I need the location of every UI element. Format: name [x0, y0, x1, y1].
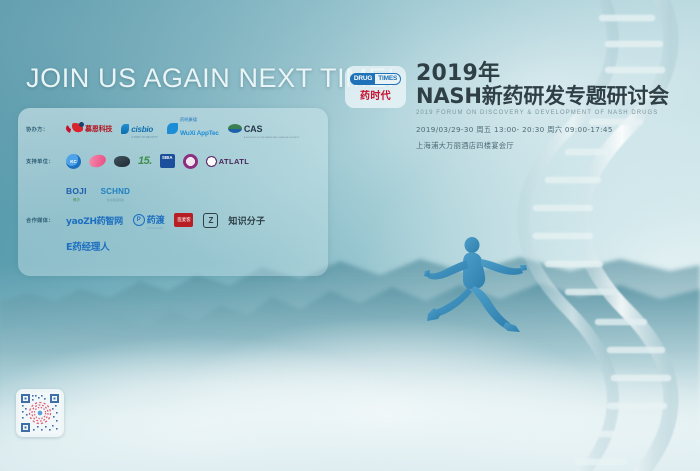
- logo-label-wrap: CAS A DIVISION OF THE AMERICAN CHEMICAL …: [244, 119, 300, 139]
- logo-kc: KC: [66, 154, 81, 169]
- times-word: TIMES: [375, 74, 400, 85]
- logo-sublabel: Pharmacodia: [147, 228, 165, 231]
- logo-yaozh: yaoZH药智网: [66, 214, 123, 227]
- sponsor-row: 合作媒体： yaoZH药智网 P 药渡 Pharmacodia 医麦客 Z 知识…: [18, 206, 328, 234]
- drug-word: DRUG: [351, 74, 375, 85]
- sponsor-row: E药经理人: [18, 234, 328, 258]
- atlatl-mark-icon: [206, 156, 217, 167]
- sponsor-panel: 协办方： 慕恩科技 cisbio A PART OF REVVITY 药: [18, 108, 328, 276]
- logo-wuxi-apptec: 药明康德 WuXi AppTec: [167, 118, 219, 141]
- sponsor-row: BOJI 博济 SCHND 生命健康科技: [18, 178, 328, 206]
- logo-label-wrap: 药渡 Pharmacodia: [147, 210, 165, 231]
- logo-label: 药渡: [147, 216, 165, 226]
- logo-pink-capsule: [88, 153, 108, 170]
- logo-zhishifenzi: 知识分子: [228, 214, 265, 227]
- logo-yimaike: 医麦客: [174, 213, 193, 227]
- event-title-en: 2019 FORUM ON DISCOVERY & DEVELOPMENT OF…: [416, 110, 645, 116]
- event-poster: JOIN US AGAIN NEXT TIME! 协办方： 慕恩科技 cisbi…: [0, 0, 700, 471]
- logo-label: WuXi AppTec: [180, 130, 219, 137]
- logo-label-wrap: 药明康德 WuXi AppTec: [180, 118, 219, 141]
- logo-e-yao-manager: E药经理人: [66, 239, 110, 253]
- logo-label: SCHND: [101, 187, 130, 196]
- logo-schnd: SCHND 生命健康科技: [101, 181, 130, 202]
- logo-sublabel: 药明康德: [180, 118, 219, 123]
- sponsor-logo-group: KC 15. SBIA ATLATL: [66, 154, 322, 169]
- logo-label: 慕恩科技: [85, 124, 112, 134]
- wuxi-icon: [167, 123, 178, 134]
- event-title-head: DRUG TIMES 药时代 2019年 NASH新药研发专题研讨会 2019 …: [345, 62, 645, 151]
- event-datetime: 2019/03/29-30 周五 13:00- 20:30 周六 09:00-1…: [416, 125, 645, 135]
- logo-label-wrap: cisbio A PART OF REVVITY: [131, 119, 158, 140]
- logo-sublabel: A DIVISION OF THE AMERICAN CHEMICAL SOCI…: [244, 137, 300, 139]
- cisbio-icon: [121, 124, 129, 134]
- logo-sublabel: 生命健康科技: [101, 199, 130, 202]
- qr-code[interactable]: [16, 389, 64, 437]
- drug-times-chinese: 药时代: [360, 87, 391, 102]
- p-circle-icon: P: [133, 214, 145, 226]
- logo-fifteen: 15.: [138, 155, 152, 167]
- logo-muen-keji: 慕恩科技: [66, 123, 112, 134]
- event-title-block: DRUG TIMES 药时代 2019年 NASH新药研发专题研讨会 2019 …: [345, 62, 645, 151]
- logo-atlatl: ATLATL: [206, 156, 249, 167]
- logo-dark-badge: [114, 156, 130, 167]
- logo-purple-circle: [183, 154, 198, 169]
- drug-times-logo: DRUG TIMES 药时代: [345, 66, 406, 108]
- logo-sbia: SBIA: [160, 154, 175, 169]
- event-title-cn: NASH新药研发专题研讨会: [416, 85, 645, 108]
- cas-icon: [228, 124, 242, 133]
- runner-silhouette: [424, 232, 528, 338]
- logo-label: cisbio: [131, 125, 153, 134]
- sponsor-logo-group: BOJI 博济 SCHND 生命健康科技: [66, 181, 322, 203]
- sponsor-row: 支持单位： KC 15. SBIA ATLATL: [18, 144, 328, 178]
- sponsor-logo-group: yaoZH药智网 P 药渡 Pharmacodia 医麦客 Z 知识分子: [66, 210, 322, 231]
- logo-sublabel: A PART OF REVVITY: [131, 137, 158, 140]
- logo-pharmacodia: P 药渡 Pharmacodia: [133, 210, 165, 231]
- logo-zhi-z: Z: [203, 213, 218, 228]
- event-year: 2019年: [416, 62, 645, 85]
- logo-cas: CAS A DIVISION OF THE AMERICAN CHEMICAL …: [228, 119, 300, 139]
- sponsor-logo-group: E药经理人: [66, 239, 322, 253]
- logo-label: ATLATL: [219, 157, 249, 166]
- sponsor-row: 协办方： 慕恩科技 cisbio A PART OF REVVITY 药: [18, 114, 328, 144]
- logo-boji: BOJI 博济: [66, 181, 87, 203]
- logo-sublabel: 博济: [66, 199, 87, 203]
- swoosh-icon: [66, 123, 83, 134]
- drug-times-pill: DRUG TIMES: [350, 73, 401, 86]
- logo-label: CAS: [244, 124, 262, 134]
- event-venue: 上海浦大万丽酒店四楼宴会厅: [416, 141, 645, 151]
- sponsor-row-label: 支持单位：: [26, 158, 66, 165]
- logo-cisbio: cisbio A PART OF REVVITY: [121, 119, 158, 140]
- sponsor-row-label: 合作媒体：: [26, 217, 66, 224]
- logo-label: BOJI: [66, 186, 87, 196]
- sponsor-logo-group: 慕恩科技 cisbio A PART OF REVVITY 药明康德 WuXi …: [66, 118, 322, 141]
- event-title-texts: 2019年 NASH新药研发专题研讨会 2019 FORUM ON DISCOV…: [416, 62, 645, 151]
- page-title: JOIN US AGAIN NEXT TIME!: [26, 63, 395, 94]
- sponsor-row-label: 协办方：: [26, 126, 66, 133]
